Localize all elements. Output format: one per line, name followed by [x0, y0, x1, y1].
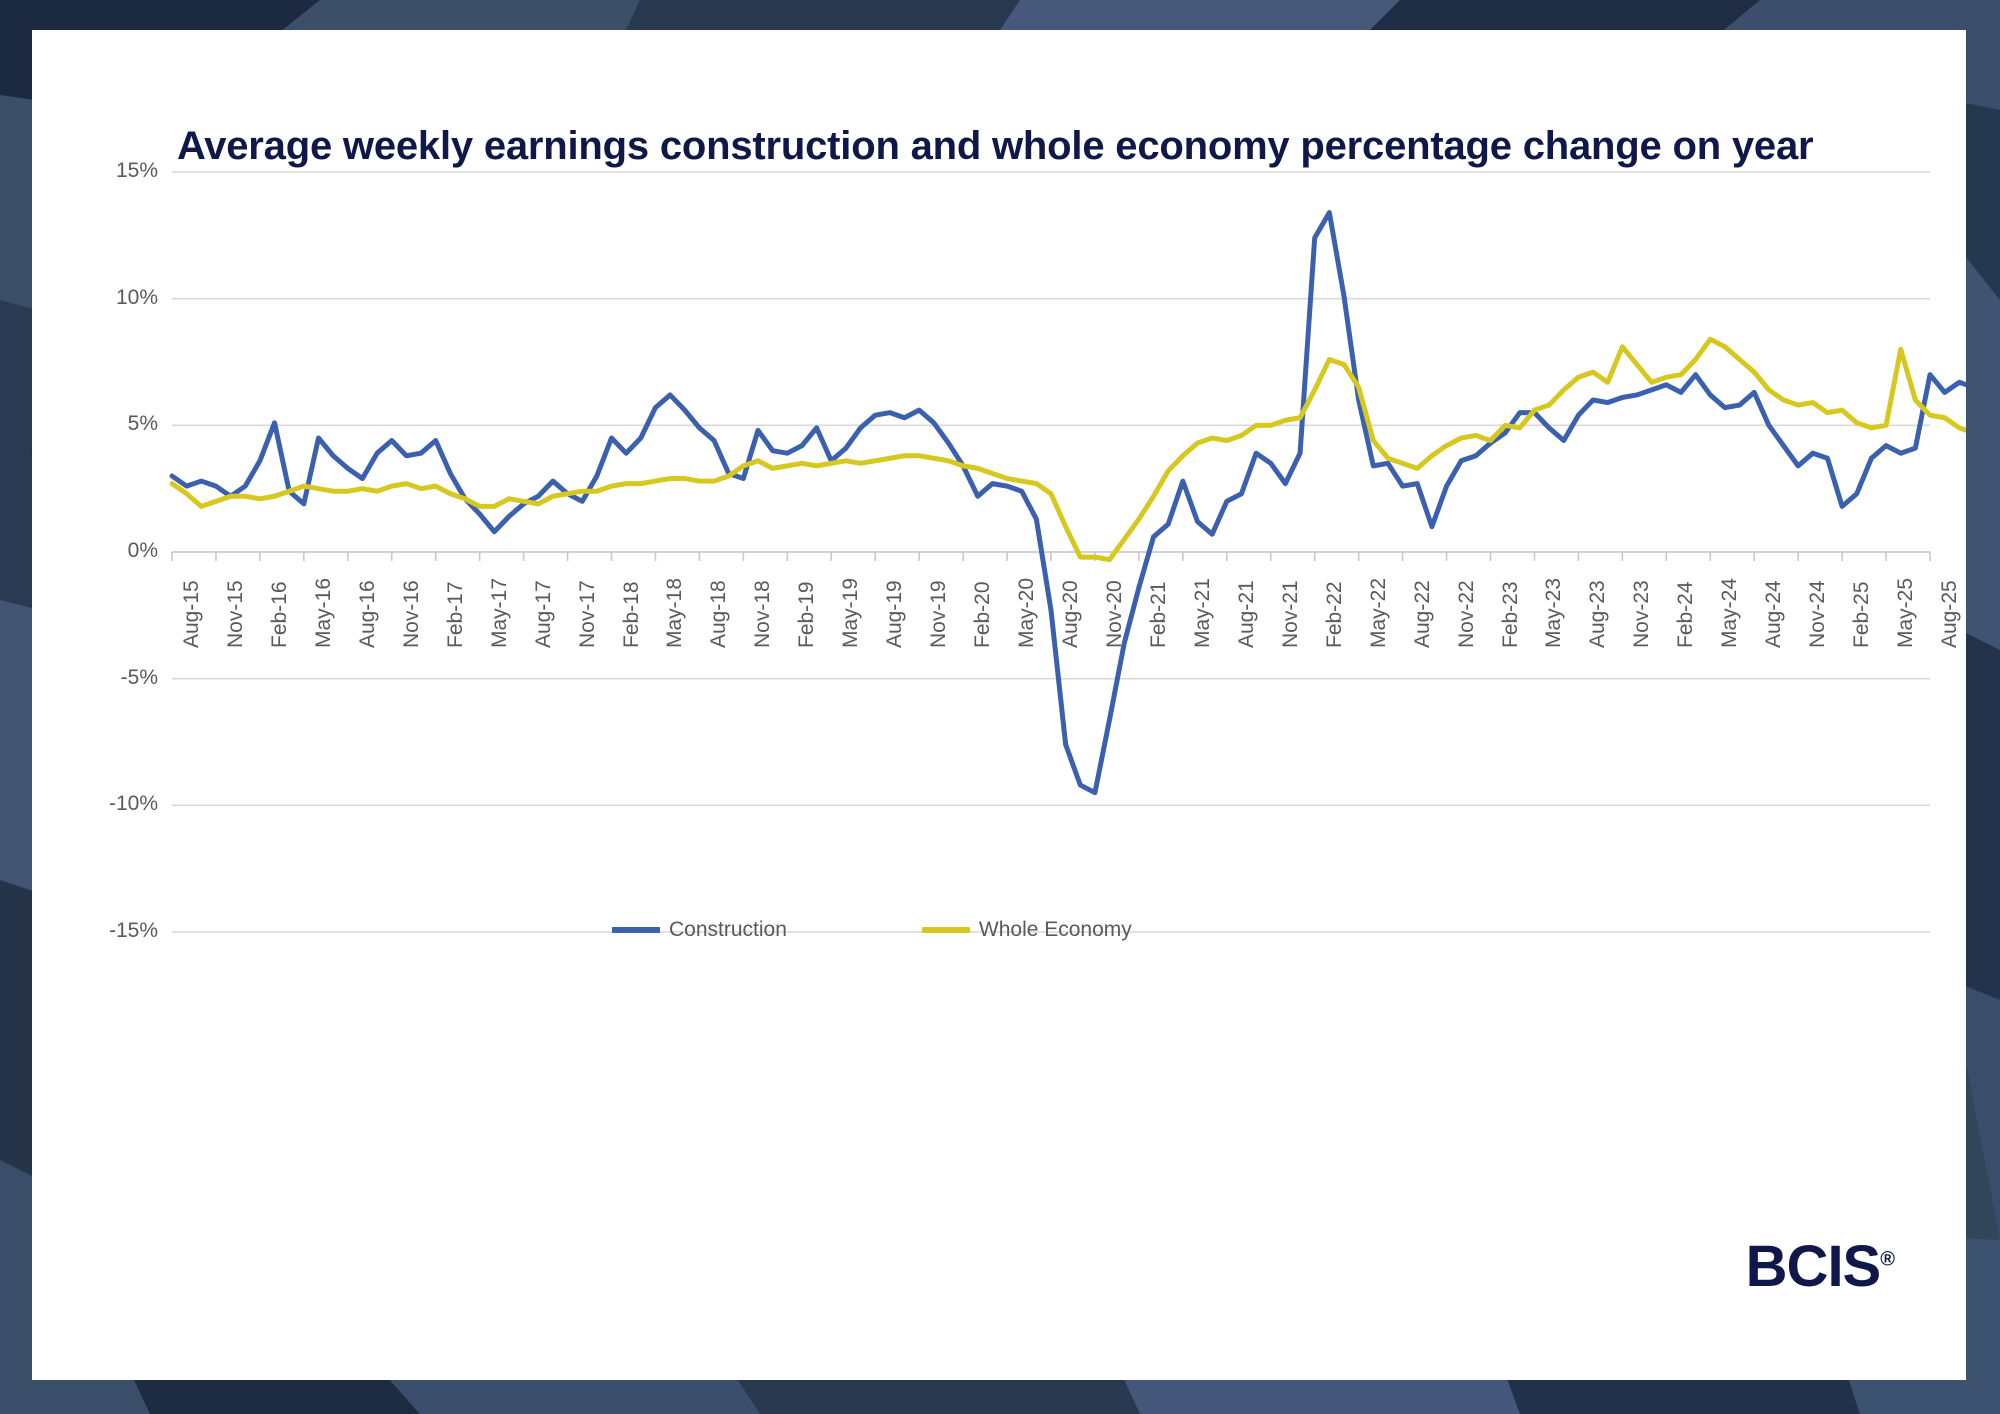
x-axis-tick-label: May-23	[1542, 578, 1566, 648]
x-axis-tick-label: Aug-24	[1762, 580, 1786, 648]
y-axis-tick-label: 15%	[88, 159, 158, 183]
x-axis-tick-label: May-17	[488, 578, 512, 648]
x-axis-tick-label: May-16	[312, 578, 336, 648]
x-axis-tick-label: Nov-19	[927, 580, 951, 648]
x-axis-tick-label: Nov-16	[400, 580, 424, 648]
x-axis-tick-label: Aug-23	[1586, 580, 1610, 648]
x-axis-tick-label: Feb-18	[620, 581, 644, 648]
x-axis-tick-label: May-24	[1718, 578, 1742, 648]
chart-area: -15%-10%-5%0%5%10%15% Aug-15Nov-15Feb-16…	[32, 30, 1966, 1380]
x-axis-tick-label: Aug-19	[883, 580, 907, 648]
x-axis-tick-label: Feb-19	[795, 581, 819, 648]
x-axis-tick-label: Aug-20	[1059, 580, 1083, 648]
x-axis-tick-label: Aug-17	[532, 580, 556, 648]
y-axis-tick-label: -15%	[88, 919, 158, 943]
x-axis-tick-label: Aug-22	[1411, 580, 1435, 648]
chart-legend: ConstructionWhole Economy	[612, 918, 1132, 942]
x-axis-tick-label: Feb-21	[1147, 581, 1171, 648]
x-axis-tick-label: May-19	[839, 578, 863, 648]
x-axis-tick-label: Feb-25	[1850, 581, 1874, 648]
legend-swatch-icon	[612, 927, 660, 933]
x-axis-tick-label: Feb-16	[268, 581, 292, 648]
series-line-construction	[172, 213, 1966, 793]
white-content-card: Average weekly earnings construction and…	[32, 30, 1966, 1380]
x-axis-tick-label: Nov-15	[224, 580, 248, 648]
x-axis-tick-label: May-18	[663, 578, 687, 648]
x-axis-tick-label: Feb-22	[1323, 581, 1347, 648]
x-axis-tick-label: Nov-18	[751, 580, 775, 648]
logo-text: BCIS	[1746, 1234, 1881, 1299]
x-axis-tick-label: May-25	[1894, 578, 1918, 648]
registered-mark-icon: ®	[1880, 1249, 1894, 1271]
y-axis-tick-label: 0%	[88, 539, 158, 563]
x-axis-tick-label: Nov-24	[1806, 580, 1830, 648]
legend-label: Whole Economy	[979, 918, 1132, 942]
x-axis-tick-label: Aug-15	[180, 580, 204, 648]
legend-swatch-icon	[922, 927, 970, 933]
x-axis-tick-label: Aug-18	[707, 580, 731, 648]
x-axis-tick-label: Nov-21	[1279, 580, 1303, 648]
x-axis-tick-label: Aug-16	[356, 580, 380, 648]
bcis-logo: BCIS®	[1746, 1233, 1894, 1300]
x-axis-tick-label: Feb-24	[1674, 581, 1698, 648]
x-axis-tick-label: Nov-17	[576, 580, 600, 648]
legend-item[interactable]: Whole Economy	[922, 918, 1132, 942]
chart-svg	[32, 30, 1966, 1380]
y-axis-tick-label: -10%	[88, 792, 158, 816]
y-axis-tick-label: 10%	[88, 286, 158, 310]
x-axis-tick-label: Aug-21	[1235, 580, 1259, 648]
y-axis-tick-label: 5%	[88, 412, 158, 436]
x-axis-tick-label: Feb-23	[1499, 581, 1523, 648]
x-axis-tick-label: Feb-20	[971, 581, 995, 648]
x-axis-tick-label: May-20	[1015, 578, 1039, 648]
x-axis-tick-label: Aug-25	[1938, 580, 1962, 648]
legend-item[interactable]: Construction	[612, 918, 787, 942]
x-axis-tick-label: Nov-23	[1630, 580, 1654, 648]
legend-label: Construction	[669, 918, 787, 942]
x-axis-tick-label: May-21	[1191, 578, 1215, 648]
x-axis-tick-label: Nov-22	[1455, 580, 1479, 648]
x-axis-tick-label: May-22	[1367, 578, 1391, 648]
x-axis-tick-label: Feb-17	[444, 581, 468, 648]
y-axis-tick-label: -5%	[88, 666, 158, 690]
x-axis-tick-label: Nov-20	[1103, 580, 1127, 648]
